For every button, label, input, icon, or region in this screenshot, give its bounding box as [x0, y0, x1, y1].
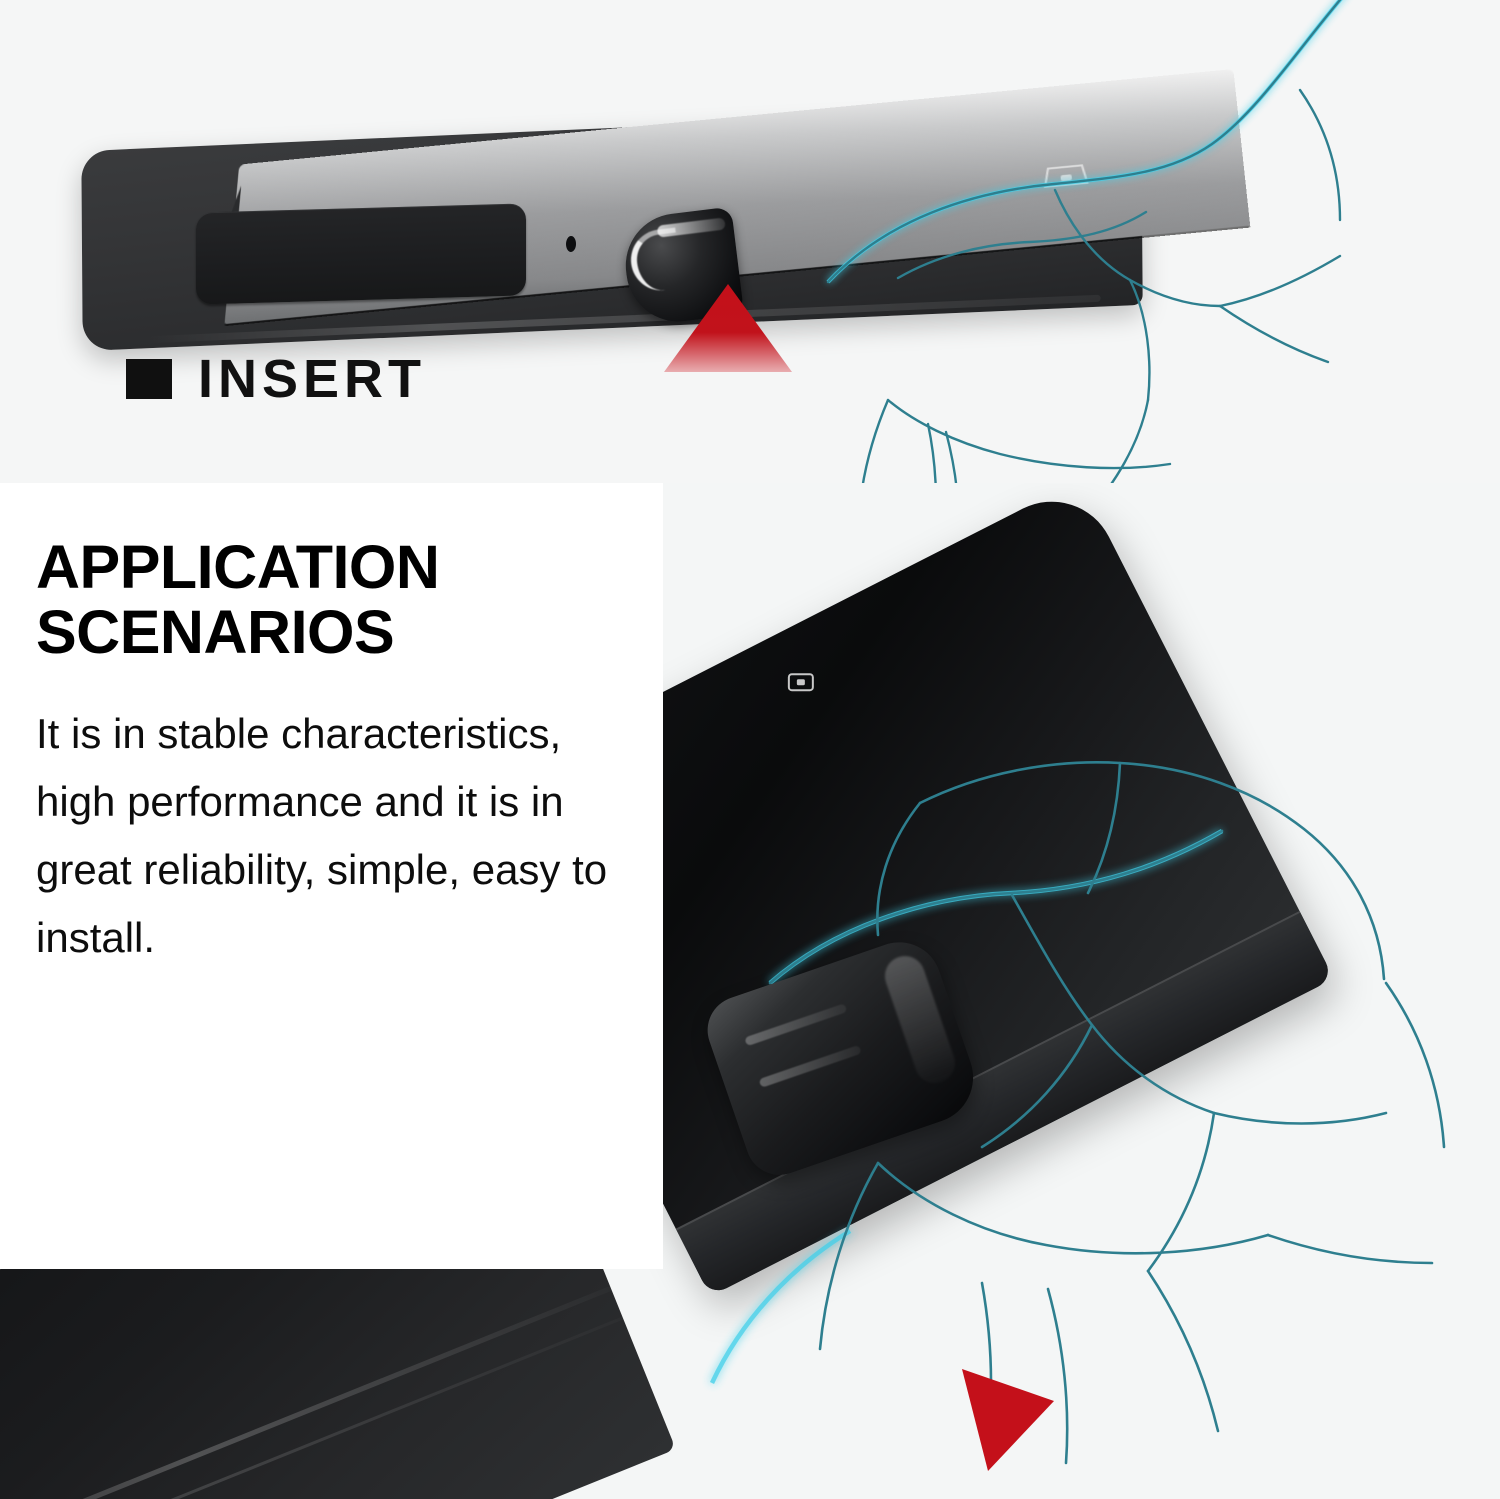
page-title: APPLICATION SCENARIOS	[36, 535, 596, 666]
insert-label-text: INSERT	[198, 352, 426, 406]
infographic-page: INSERT	[0, 0, 1500, 1499]
plug-callout-arrow-top	[950, 1363, 1060, 1478]
bullet-square-icon	[126, 359, 172, 399]
insert-label: INSERT	[126, 352, 426, 406]
plug-rib	[744, 1003, 847, 1046]
speaker-flap	[196, 203, 526, 304]
description-text: It is in stable characteristics, high pe…	[36, 700, 619, 972]
camera-icon	[786, 668, 816, 694]
insert-step-panel: INSERT	[0, 0, 1500, 483]
application-scenarios-card: APPLICATION SCENARIOS It is in stable ch…	[0, 483, 663, 1269]
plug-rib	[759, 1045, 862, 1088]
card-port-icon	[1037, 157, 1094, 196]
